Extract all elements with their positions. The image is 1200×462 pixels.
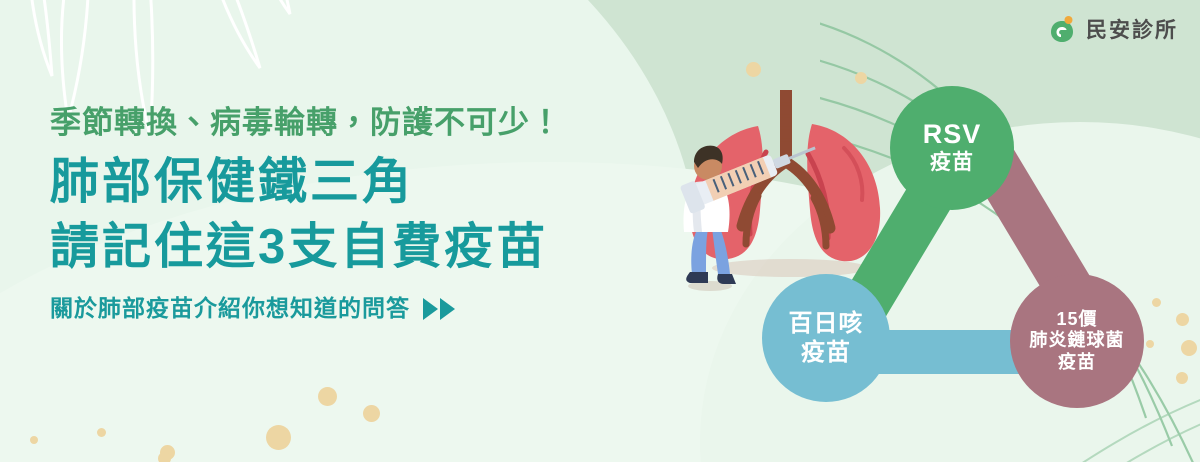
decor-dot	[363, 405, 380, 422]
headline-line-2: 請記住這3支自費疫苗	[50, 216, 710, 280]
kicker-text: 季節轉換、病毒輪轉，防護不可少！	[50, 104, 710, 143]
double-triangle-right-icon	[423, 298, 455, 320]
clinic-name: 民安診所	[1086, 14, 1178, 44]
vaccine-label-line: RSV	[923, 119, 982, 150]
vaccine-triangle: RSV 疫苗 百日咳 疫苗 15價 肺炎鏈球菌 疫苗	[700, 60, 1200, 462]
decor-dot	[158, 452, 171, 462]
vaccine-promo-banner: 民安診所 季節轉換、病毒輪轉，防護不可少！ 肺部保健鐵三角 請記住這3支自費疫苗…	[0, 0, 1200, 462]
apple-leaf-icon	[1047, 14, 1077, 44]
subtitle-text: 關於肺部疫苗介紹你想知道的問答	[50, 294, 410, 324]
subtitle-row: 關於肺部疫苗介紹你想知道的問答	[50, 294, 710, 324]
vaccine-label-line: 15價	[1056, 309, 1097, 331]
decor-dot	[30, 436, 38, 444]
vaccine-circle-rsv[interactable]: RSV 疫苗	[890, 86, 1014, 210]
decor-dot	[266, 425, 291, 450]
clinic-logo[interactable]: 民安診所	[1047, 14, 1178, 44]
vaccine-label-line: 疫苗	[801, 338, 851, 367]
decor-dot	[318, 387, 337, 406]
vaccine-circle-pneumococcal[interactable]: 15價 肺炎鏈球菌 疫苗	[1010, 274, 1144, 408]
vaccine-label-line: 疫苗	[930, 150, 974, 176]
vaccine-label-line: 肺炎鏈球菌	[1030, 330, 1125, 352]
decor-dot	[97, 428, 106, 437]
vaccine-label-line: 百日咳	[789, 309, 864, 338]
headline-block: 季節轉換、病毒輪轉，防護不可少！ 肺部保健鐵三角 請記住這3支自費疫苗 關於肺部…	[50, 104, 710, 324]
vaccine-label-line: 疫苗	[1058, 352, 1096, 374]
vaccine-circle-pertussis[interactable]: 百日咳 疫苗	[762, 274, 890, 402]
headline-line-1: 肺部保健鐵三角	[50, 151, 710, 215]
